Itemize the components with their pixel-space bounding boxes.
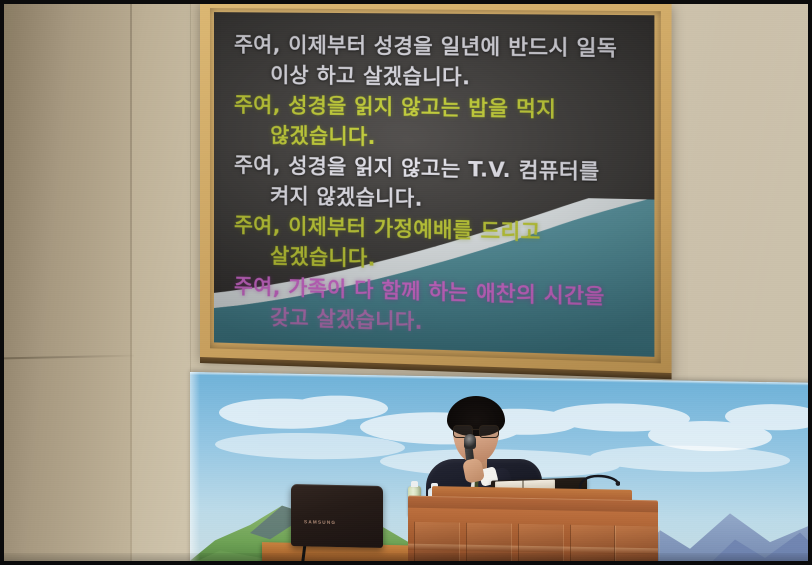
- bottle-cap: [411, 481, 418, 487]
- laptop: SAMSUNG: [291, 484, 383, 548]
- laptop-brand-label: SAMSUNG: [304, 519, 336, 525]
- eyeglasses-icon: [452, 425, 500, 436]
- microphone-head: [464, 434, 476, 449]
- photograph: 주여, 이제부터 성경을 일년에 반드시 일독 이상 하고 살겠습니다. 주여,…: [0, 0, 812, 565]
- stage-floor-shadow: [4, 553, 808, 561]
- stage-objects: SAMSUNG: [4, 4, 808, 561]
